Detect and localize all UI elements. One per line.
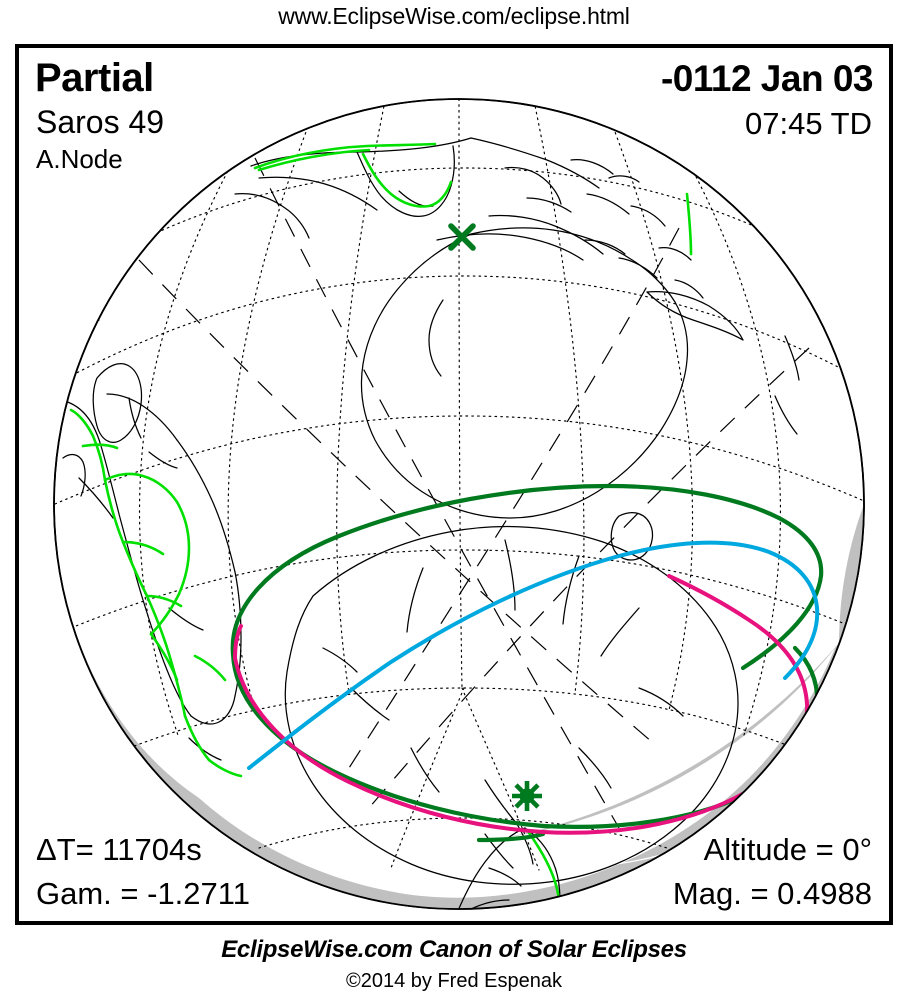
source-url-label: www.EclipseWise.com/eclipse.html [0,3,908,30]
globe-map [19,48,889,921]
eclipse-date-label: -0112 Jan 03 [661,60,873,97]
canon-title-caption: EclipseWise.com Canon of Solar Eclipses [0,938,908,962]
eclipse-figure-page: www.EclipseWise.com/eclipse.html [0,0,908,1004]
copyright-caption: ©2014 by Fred Espenak [0,971,908,991]
greatest-eclipse-marker [512,781,542,811]
gamma-label: Gam. = -1.2711 [36,878,250,909]
globe-svg [19,48,889,921]
node-label: A.Node [36,146,123,172]
eclipse-time-label: 07:45 TD [745,108,872,139]
altitude-label: Altitude = 0° [704,834,872,865]
saros-label: Saros 49 [36,106,164,138]
delta-t-label: ΔT= 11704s [36,834,202,865]
eclipse-map-frame: Partial Saros 49 A.Node -0112 Jan 03 07:… [15,44,893,925]
eclipse-type-label: Partial [35,58,154,98]
magnitude-label: Mag. = 0.4988 [673,878,872,909]
